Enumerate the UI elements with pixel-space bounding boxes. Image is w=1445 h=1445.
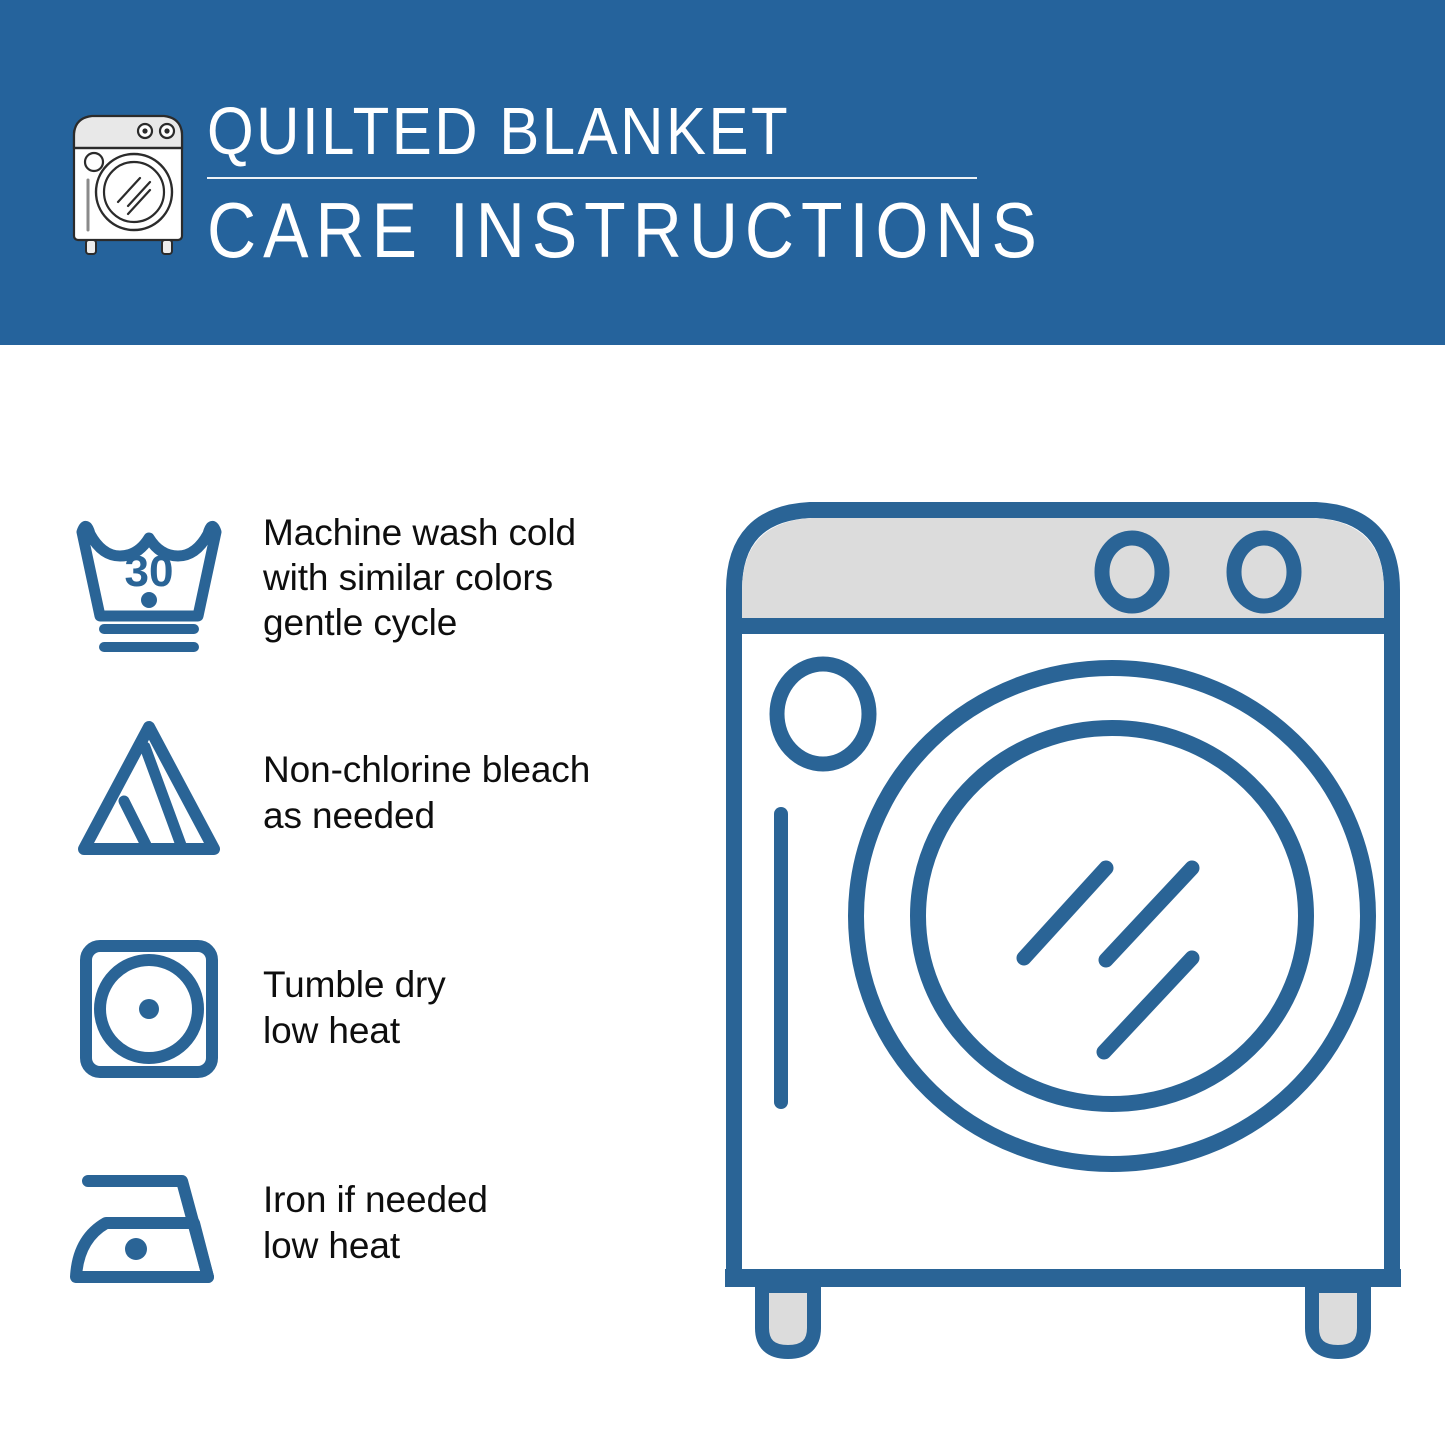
care-item-iron: Iron if needed low heat [0,1115,700,1330]
page-header: QUILTED BLANKET CARE INSTRUCTIONS [0,0,1445,345]
iron-low-heat-icon [62,1135,237,1310]
washing-machine-illustration [706,466,1420,1366]
care-item-label: Machine wash cold with similar colors ge… [263,510,576,645]
svg-text:30: 30 [125,547,174,596]
care-item-line: Tumble dry [263,962,446,1007]
care-item-tumble-dry: Tumble dry low heat [0,900,700,1115]
page-subtitle: CARE INSTRUCTIONS [207,192,1007,270]
care-item-label: Tumble dry low heat [263,962,446,1052]
care-item-machine-wash: 30 Machine wash cold with similar colors… [0,470,700,685]
washing-machine-icon [66,104,192,256]
title-divider [207,177,977,179]
triangle-non-chlorine-bleach-icon [62,705,237,880]
care-instructions-page: QUILTED BLANKET CARE INSTRUCTIONS 30 [0,0,1445,1445]
care-item-line: low heat [263,1008,446,1053]
care-item-line: as needed [263,793,590,838]
care-item-label: Non-chlorine bleach as needed [263,747,590,837]
header-text-block: QUILTED BLANKET CARE INSTRUCTIONS [207,98,1007,260]
care-item-line: with similar colors [263,555,576,600]
care-instruction-list: 30 Machine wash cold with similar colors… [0,470,700,1330]
care-item-line: Iron if needed [263,1177,488,1222]
care-item-line: low heat [263,1223,488,1268]
care-item-line: Non-chlorine bleach [263,747,590,792]
tumble-dry-low-icon [62,920,237,1095]
wash-tub-30-gentle-icon: 30 [62,490,237,665]
care-item-bleach: Non-chlorine bleach as needed [0,685,700,900]
care-item-line: gentle cycle [263,600,576,645]
page-title: QUILTED BLANKET [207,98,1007,165]
care-item-line: Machine wash cold [263,510,576,555]
care-item-label: Iron if needed low heat [263,1177,488,1267]
